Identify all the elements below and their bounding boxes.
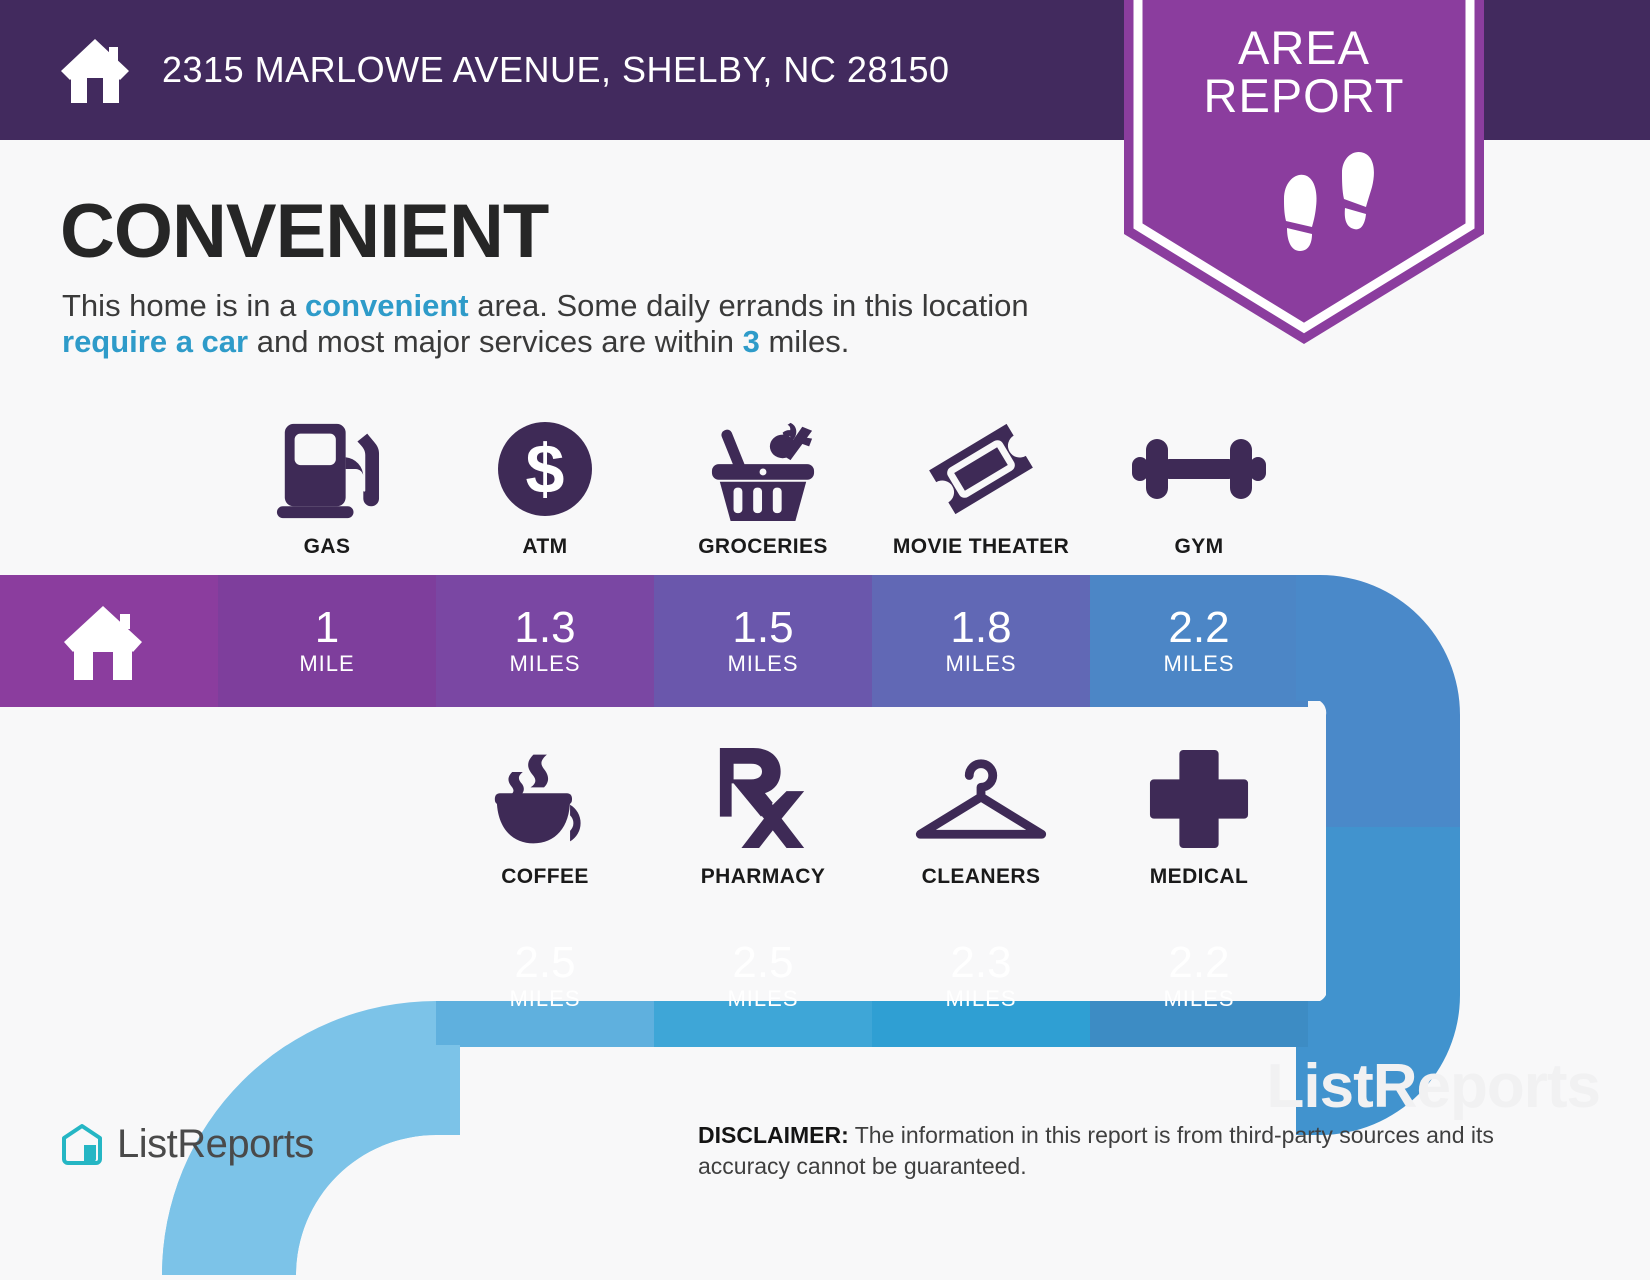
amenity-gym: GYM: [1090, 415, 1308, 559]
summary-text: This home is in a convenient area. Some …: [62, 288, 1092, 360]
distance-bar-top-row: [0, 575, 1650, 1147]
movie-ticket-icon: [926, 415, 1036, 523]
summary-part-1: This home is in a: [62, 288, 305, 323]
gas-pump-icon: [273, 415, 381, 523]
badge-title-line1: AREA: [1124, 24, 1484, 72]
property-address: 2315 MARLOWE AVENUE, SHELBY, NC 28150: [162, 49, 950, 91]
amenity-label: GROCERIES: [698, 535, 828, 559]
amenity-icon-row-top: GAS $ ATM: [0, 415, 1650, 559]
summary-part-3: and most major services are within: [248, 324, 742, 359]
dumbbell-icon: [1132, 415, 1266, 523]
home-icon: [58, 33, 132, 107]
svg-text:$: $: [526, 430, 565, 508]
amenity-label: GYM: [1174, 535, 1223, 559]
amenity-movie-theater: MOVIE THEATER: [872, 415, 1090, 559]
dollar-circle-icon: $: [495, 415, 595, 523]
summary-highlight-3: 3: [743, 324, 760, 359]
page-title: CONVENIENT: [60, 188, 548, 275]
summary-highlight-1: convenient: [305, 288, 469, 323]
summary-part-4: miles.: [760, 324, 850, 359]
disclaimer: DISCLAIMER: The information in this repo…: [698, 1120, 1528, 1182]
grocery-basket-icon: [706, 415, 820, 523]
amenity-label: GAS: [304, 535, 351, 559]
amenity-label: MOVIE THEATER: [893, 535, 1069, 559]
summary-highlight-2: require a car: [62, 324, 248, 359]
amenity-label: ATM: [522, 535, 567, 559]
home-icon: [62, 602, 144, 682]
amenity-groceries: GROCERIES: [654, 415, 872, 559]
listreports-logo: ListReports: [60, 1122, 314, 1167]
footprints-icon: [1276, 151, 1396, 261]
listreports-house-icon: [60, 1123, 104, 1167]
listreports-wordmark: ListReports: [117, 1122, 314, 1167]
disclaimer-label: DISCLAIMER:: [698, 1122, 849, 1148]
amenity-gas: GAS: [218, 415, 436, 559]
summary-part-2: area. Some daily errands in this locatio…: [469, 288, 1029, 323]
distance-bar-bottom-row: [160, 927, 1308, 1275]
badge-title: AREA REPORT: [1124, 24, 1484, 120]
area-report-badge: AREA REPORT: [1124, 0, 1484, 344]
badge-title-line2: REPORT: [1124, 72, 1484, 120]
amenity-atm: $ ATM: [436, 415, 654, 559]
